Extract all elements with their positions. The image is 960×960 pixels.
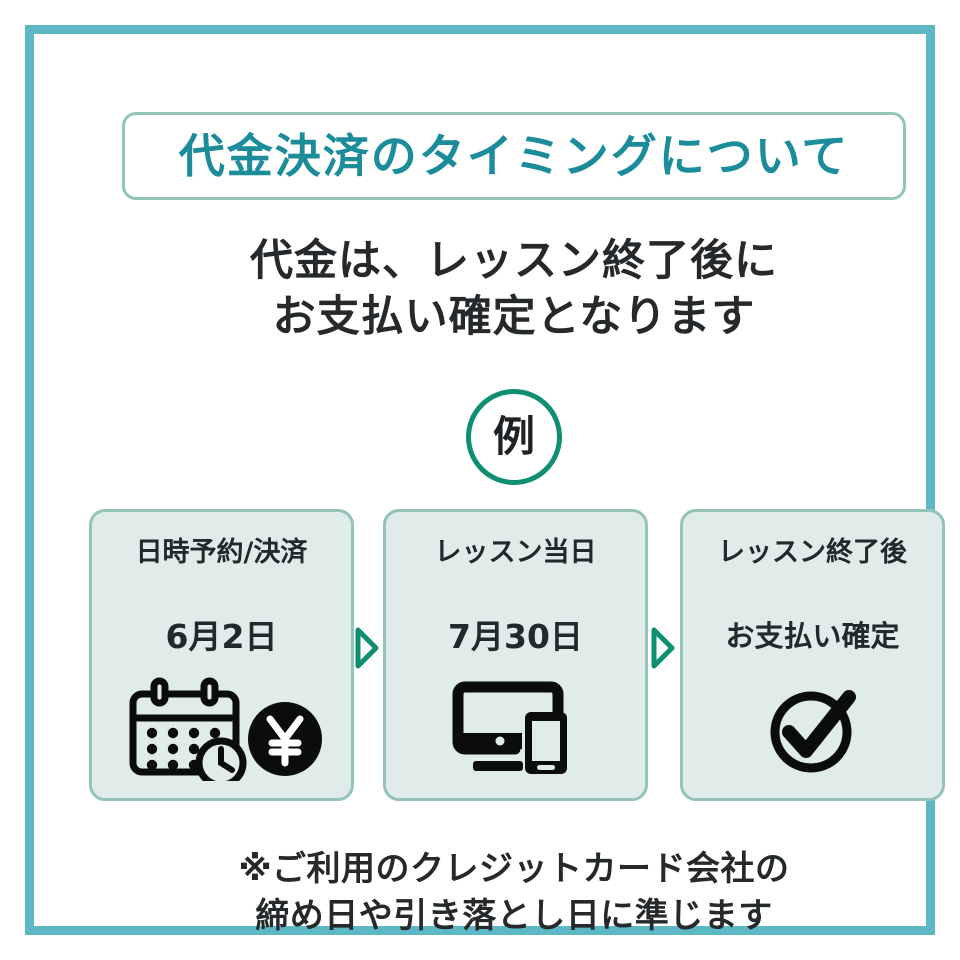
flow-step-1-icons [122, 677, 322, 781]
flow-arrow-1 [354, 627, 380, 669]
example-badge: 例 [466, 389, 562, 485]
flow-step-2-icons [451, 677, 581, 781]
footer-note-line-2: 締め日や引き落とし日に準じます [34, 893, 960, 940]
check-circle-icon [761, 675, 865, 779]
flow-step-3-icons [761, 675, 865, 779]
flow-step-card-3: レッスン終了後 お支払い確定 [680, 509, 945, 801]
outer-frame: 代金決済のタイミングについて 代金は、レッスン終了後に お支払い確定となります … [25, 25, 935, 935]
flow-steps: 日時予約/決済 6月2日 [34, 509, 960, 801]
flow-arrow-2 [650, 627, 676, 669]
triangle-right-icon [354, 627, 380, 669]
footer-note-line-1: ※ご利用のクレジットカード会社の [34, 846, 960, 893]
flow-step-3-value: お支払い確定 [725, 622, 899, 651]
infographic-canvas: 代金決済のタイミングについて 代金は、レッスン終了後に お支払い確定となります … [0, 0, 960, 960]
flow-step-3-title: レッスン終了後 [718, 539, 907, 566]
flow-step-1-title: 日時予約/決済 [136, 539, 308, 566]
flow-step-1-value: 6月2日 [166, 620, 278, 653]
triangle-right-icon [650, 627, 676, 669]
main-statement-line-2: お支払い確定となります [34, 290, 960, 346]
clock-badge-icon [199, 741, 243, 781]
monitor-smartphone-icon [451, 677, 581, 781]
flow-step-card-2: レッスン当日 7月30日 [383, 509, 648, 801]
calendar-clock-yen-icon-group [122, 677, 322, 781]
flow-step-2-value: 7月30日 [448, 620, 583, 653]
main-statement-line-1: 代金は、レッスン終了後に [34, 234, 960, 290]
yen-coin-icon [248, 702, 322, 776]
flow-step-card-1: 日時予約/決済 6月2日 [89, 509, 354, 801]
title-box: 代金決済のタイミングについて [122, 112, 906, 200]
main-statement: 代金は、レッスン終了後に お支払い確定となります [34, 234, 960, 346]
footer-note: ※ご利用のクレジットカード会社の 締め日や引き落とし日に準じます [34, 846, 960, 940]
flow-step-2-title: レッスン当日 [435, 539, 597, 566]
page-title: 代金決済のタイミングについて [179, 133, 850, 179]
example-badge-label: 例 [493, 416, 535, 458]
